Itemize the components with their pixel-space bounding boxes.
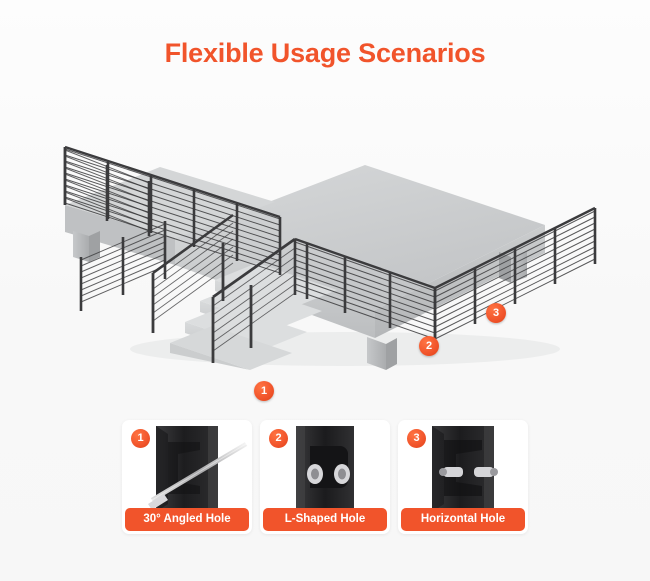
page-title-container: Flexible Usage Scenarios (0, 38, 650, 69)
card-label-1: 30° Angled Hole (125, 508, 249, 531)
hole-type-card-1[interactable]: 1 30° Angled Hole (122, 420, 252, 534)
hole-type-card-3[interactable]: 3 Horizontal Hole (398, 420, 528, 534)
hole-type-card-2[interactable]: 2 L-Shaped Hole (260, 420, 390, 534)
card-label-2: L-Shaped Hole (263, 508, 387, 531)
horizontal-cable-left (260, 464, 323, 484)
horizontal-cable-right (334, 464, 390, 484)
hero-callout-1[interactable]: 1 (254, 381, 274, 401)
card-badge-2: 2 (269, 429, 288, 448)
hero-callout-2[interactable]: 2 (419, 336, 439, 356)
hero-illustration: 1 2 3 (45, 105, 605, 370)
product-feature-page: Flexible Usage Scenarios (0, 0, 650, 581)
card-badge-1: 1 (131, 429, 150, 448)
card-label-3: Horizontal Hole (401, 508, 525, 531)
hero-callout-3[interactable]: 3 (486, 303, 506, 323)
page-title: Flexible Usage Scenarios (0, 38, 650, 69)
hole-type-card-row: 1 30° Angled Hole (122, 420, 528, 534)
card-badge-3: 3 (407, 429, 426, 448)
